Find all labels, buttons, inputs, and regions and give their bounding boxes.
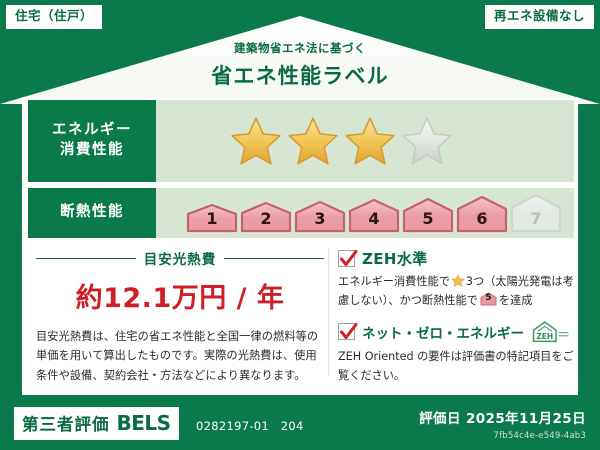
bels-en-label: BELS — [117, 411, 171, 435]
zeh-column: ZEH水準 エネルギー消費性能で3つ（太陽光発電は考慮しない）、かつ断熱性能で5… — [324, 244, 574, 390]
insulation-performance-value: 1234567 — [156, 193, 574, 233]
insulation-grade-badge: 5 — [402, 197, 454, 233]
insulation-grade-value: 4 — [348, 209, 400, 228]
zeh-netzero-heading: ネット・ゼロ・エネルギー ZEH — [338, 320, 574, 344]
insulation-grade-badge: 3 — [294, 200, 346, 233]
insulation-label-line1: 断熱性能 — [60, 203, 124, 223]
insulation-performance-label: 断熱性能 — [28, 188, 156, 238]
energy-performance-label: エネルギー 消費性能 — [28, 100, 156, 182]
insulation-grade-badge: 1 — [186, 203, 238, 233]
check-icon — [338, 248, 359, 269]
insulation-grade-badge: 2 — [240, 201, 292, 233]
insulation-grade-value: 1 — [186, 209, 238, 228]
heading-rule-left — [36, 258, 136, 259]
utility-cost-amount: 約12.1万円 / 年 — [36, 276, 324, 315]
zeh-standard-checkbox[interactable] — [338, 250, 355, 267]
page-title: 省エネ性能ラベル — [0, 60, 600, 90]
insulation-grade-value: 7 — [510, 209, 562, 228]
energy-performance-row: エネルギー 消費性能 — [28, 100, 574, 182]
check-icon — [338, 321, 359, 342]
header-subtitle: 建築物省エネ法に基づく — [0, 40, 600, 56]
utility-cost-heading: 目安光熱費 — [36, 248, 324, 268]
utility-cost-heading-text: 目安光熱費 — [144, 248, 217, 268]
insulation-grade-badge: 4 — [348, 198, 400, 233]
heading-rule-right — [224, 258, 324, 259]
insulation-grade-value: 6 — [456, 209, 508, 228]
evaluation-date: 評価日 2025年11月25日 — [419, 407, 586, 427]
zeh-netzero-text: ZEH Oriented の要件は評価書の特記項目をご覧ください。 — [338, 347, 574, 386]
zeh-standard-title: ZEH水準 — [362, 248, 428, 269]
zeh-standard-text-part2: を達成 — [499, 294, 533, 307]
zeh-standard-heading: ZEH水準 — [338, 248, 574, 269]
insulation-grade-scale: 1234567 — [156, 193, 562, 233]
star-empty-icon — [401, 116, 453, 166]
zeh-logo-icon: ZEH — [531, 320, 571, 344]
zeh-standard-block: ZEH水準 エネルギー消費性能で3つ（太陽光発電は考慮しない）、かつ断熱性能で5… — [338, 248, 574, 311]
bels-number: 0282197-01 204 — [196, 418, 304, 434]
lower-section: 目安光熱費 約12.1万円 / 年 目安光熱費は、住宅の省エネ性能と全国一律の燃… — [28, 244, 574, 390]
utility-cost-column: 目安光熱費 約12.1万円 / 年 目安光熱費は、住宅の省エネ性能と全国一律の燃… — [28, 244, 324, 390]
star-rating — [156, 116, 453, 166]
insulation-grade-value: 5 — [402, 209, 454, 228]
zeh-standard-text-part1: エネルギー消費性能で — [338, 275, 450, 288]
insulation-grade-badge: 6 — [456, 195, 508, 233]
insulation-grade-value: 2 — [240, 209, 292, 228]
star-filled-icon — [344, 116, 396, 166]
zeh-netzero-block: ネット・ゼロ・エネルギー ZEH ZEH Oriented の要件は評価書の特記… — [338, 320, 574, 386]
star-filled-icon — [230, 116, 282, 166]
header-block: 建築物省エネ法に基づく 省エネ性能ラベル — [0, 18, 600, 104]
energy-label-line1: エネルギー — [52, 121, 132, 141]
energy-label-root: 建築物省エネ法に基づく 省エネ性能ラベル 住宅（住戸） 再エネ設備なし エネルギ… — [0, 0, 600, 450]
zeh-netzero-title: ネット・ゼロ・エネルギー — [362, 322, 524, 342]
zeh-standard-text: エネルギー消費性能で3つ（太陽光発電は考慮しない）、かつ断熱性能で5を達成 — [338, 272, 574, 311]
energy-label-line2: 消費性能 — [60, 141, 124, 161]
inline-star-icon — [451, 274, 465, 287]
insulation-performance-row: 断熱性能 1234567 — [28, 188, 574, 238]
inline-grade-value: 5 — [480, 291, 497, 306]
evaluation-hash: 7fb54c4e-e549-4ab3 — [493, 431, 586, 441]
renewable-equipment-tag: 再エネ設備なし — [485, 5, 594, 29]
insulation-grade-value: 3 — [294, 209, 346, 228]
bels-jp-label: 第三者評価 — [22, 411, 110, 435]
utility-cost-note: 目安光熱費は、住宅の省エネ性能と全国一律の燃料等の単価を用いて算出したものです。… — [36, 327, 324, 385]
star-filled-icon — [287, 116, 339, 166]
bels-plate: 第三者評価 BELS — [14, 407, 179, 440]
zeh-netzero-checkbox[interactable] — [338, 323, 355, 340]
body-panel: エネルギー 消費性能 断熱性能 1234567 目安光熱費 — [22, 97, 578, 395]
svg-text:ZEH: ZEH — [536, 331, 553, 340]
insulation-grade-badge: 7 — [510, 193, 562, 233]
building-type-tag: 住宅（住戸） — [6, 5, 102, 29]
energy-performance-value — [156, 116, 574, 166]
inline-grade-badge: 5 — [480, 292, 497, 306]
